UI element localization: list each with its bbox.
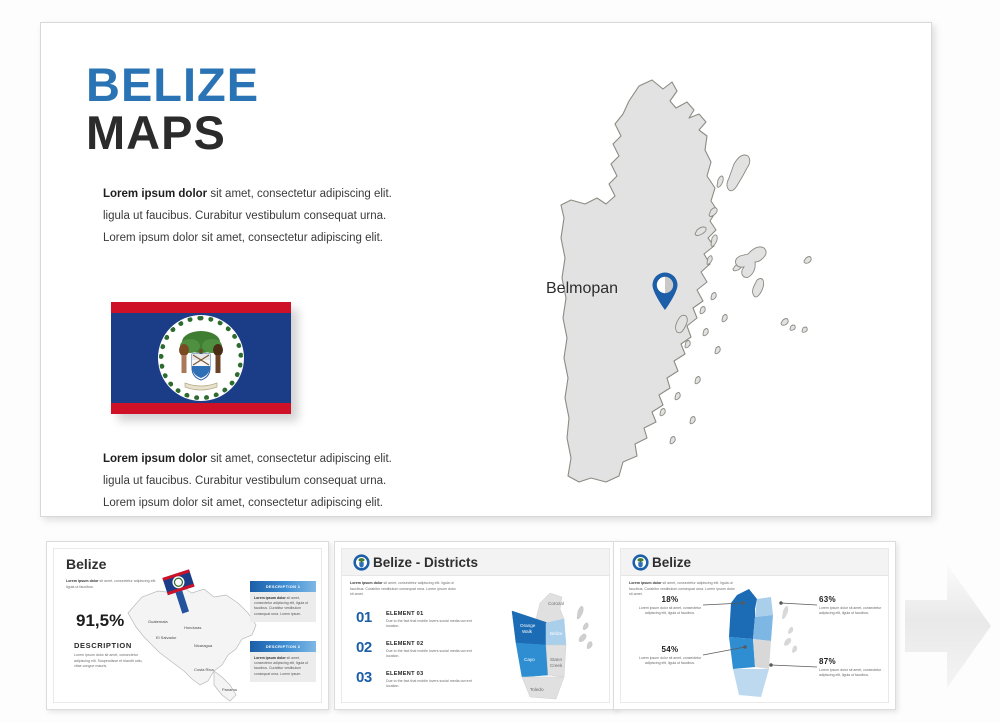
thumbnail-2-intro: Lorem ipsum dolor sit amet, consectetur … [350, 581, 460, 598]
presentation-canvas: BELIZE MAPS Lorem ipsum dolor sit amet, … [0, 0, 1000, 723]
svg-text:Corozal: Corozal [548, 601, 564, 606]
thumbnail-3-callout-4-text: Lorem ipsum dolor sit amet, consectetur … [819, 668, 885, 678]
svg-text:Belize: Belize [550, 631, 563, 636]
thumbnail-3-callout-3-text: Lorem ipsum dolor sit amet, consectetur … [819, 606, 885, 616]
thumbnail-1-panel-1[interactable]: DESCRIPTION 1 Lorem ipsum dolor sit amet… [250, 581, 316, 622]
callout-leader-lines [621, 549, 896, 710]
svg-text:Stann: Stann [550, 657, 562, 662]
svg-text:Costa Rica: Costa Rica [194, 667, 214, 672]
thumbnail-2-element-1-name: ELEMENT 01 [386, 611, 424, 617]
svg-text:Orange: Orange [520, 623, 536, 628]
thumbnail-2-element-2-number: 02 [356, 639, 372, 656]
thumbnail-1-panel-1-header: DESCRIPTION 1 [250, 581, 316, 592]
district-corozal [536, 593, 564, 623]
thumbnail-3-callout-4: 87% Lorem ipsum dolor sit amet, consecte… [819, 657, 885, 678]
capital-city-label: Belmopan [546, 280, 618, 298]
coat-of-arms-icon [353, 554, 370, 571]
intro-paragraph-bottom: Lorem ipsum dolor sit amet, consectetur … [103, 448, 408, 514]
thumbnail-2-element-3-text: Due to the fact that mobile lovers socia… [386, 679, 472, 689]
thumbnail-2-element-2-name: ELEMENT 02 [386, 641, 424, 647]
thumbnail-1-panel-2-header: DESCRIPTION 2 [250, 641, 316, 652]
thumbnail-3-callout-2-pct: 54% [637, 645, 703, 654]
svg-text:Cayo: Cayo [524, 657, 535, 662]
thumbnail-2-inner: Belize - Districts Lorem ipsum dolor sit… [341, 548, 610, 703]
central-america-mini-map: Guatemala Honduras El Salvador Nicaragua… [118, 567, 268, 707]
thumbnail-1-panel-2[interactable]: DESCRIPTION 2 Lorem ipsum dolor sit amet… [250, 641, 316, 682]
svg-text:Nicaragua: Nicaragua [194, 643, 213, 648]
belize-districts-mini-map[interactable]: Corozal Orange Walk Belize Cayo Stann Cr… [492, 575, 612, 705]
svg-text:Guatemala: Guatemala [148, 619, 168, 624]
thumbnail-3-callout-3-pct: 63% [819, 595, 885, 604]
thumbnail-2-intro-bold: Lorem ipsum dolor [350, 581, 383, 585]
title-maps: MAPS [86, 108, 259, 158]
thumbnail-3-callout-1-pct: 18% [637, 595, 703, 604]
thumbnail-2-element-3-name: ELEMENT 03 [386, 671, 424, 677]
thumbnail-2-element-2-text: Due to the fact that mobile lovers socia… [386, 649, 472, 659]
svg-text:Creek: Creek [550, 663, 563, 668]
thumbnail-3-callout-3: 63% Lorem ipsum dolor sit amet, consecte… [819, 595, 885, 616]
map-pin-icon[interactable] [651, 271, 679, 311]
svg-text:Panama: Panama [222, 687, 238, 692]
thumbnail-3-callout-2-text: Lorem ipsum dolor sit amet, consectetur … [637, 656, 703, 666]
thumbnail-1-intro-bold: Lorem ipsum dolor [66, 579, 99, 583]
thumbnail-2-element-3-number: 03 [356, 669, 372, 686]
thumbnail-3-callout-4-pct: 87% [819, 657, 885, 666]
coat-of-arms-icon [111, 302, 291, 414]
thumbnail-slide-1[interactable]: Belize Lorem ipsum dolor sit amet, conse… [46, 541, 329, 710]
intro-paragraph-bottom-bold: Lorem ipsum dolor [103, 453, 207, 465]
next-arrow-icon[interactable] [905, 556, 993, 696]
svg-text:Honduras: Honduras [184, 625, 201, 630]
svg-text:El Salvador: El Salvador [156, 635, 177, 640]
thumbnail-2-element-1-number: 01 [356, 609, 372, 626]
thumbnail-1-panel-1-bold: Lorem ipsum dolor [254, 596, 286, 600]
belize-country-map[interactable]: Belmopan [511, 58, 921, 508]
flag-field [111, 302, 291, 414]
thumbnail-3-inner: Belize Lorem ipsum dolor sit amet, conse… [620, 548, 889, 703]
belize-flag [111, 302, 291, 414]
thumbnail-1-inner: Belize Lorem ipsum dolor sit amet, conse… [53, 548, 322, 703]
thumbnail-2-title: Belize - Districts [373, 555, 478, 570]
thumbnail-2-element-1-text: Due to the fact that mobile lovers socia… [386, 619, 472, 629]
thumbnail-slide-3[interactable]: Belize Lorem ipsum dolor sit amet, conse… [613, 541, 896, 710]
thumbnail-slide-2[interactable]: Belize - Districts Lorem ipsum dolor sit… [334, 541, 617, 710]
main-slide[interactable]: BELIZE MAPS Lorem ipsum dolor sit amet, … [40, 22, 932, 517]
intro-paragraph-top-bold: Lorem ipsum dolor [103, 188, 207, 200]
thumbnail-1-panel-2-bold: Lorem ipsum dolor [254, 656, 286, 660]
title-belize: BELIZE [86, 61, 259, 108]
thumbnail-1-title: Belize [66, 556, 106, 572]
thumbnail-1-panel-1-body: Lorem ipsum dolor sit amet, consectetur … [250, 592, 316, 622]
intro-paragraph-top: Lorem ipsum dolor sit amet, consectetur … [103, 183, 408, 249]
page-title: BELIZE MAPS [86, 61, 259, 158]
thumbnail-3-callout-1-text: Lorem ipsum dolor sit amet, consectetur … [637, 606, 703, 616]
svg-text:Walk: Walk [522, 629, 533, 634]
thumbnail-1-panel-2-body: Lorem ipsum dolor sit amet, consectetur … [250, 652, 316, 682]
thumbnail-3-callout-1: 18% Lorem ipsum dolor sit amet, consecte… [637, 595, 703, 616]
thumbnail-1-stat-value: 91,5% [76, 611, 124, 631]
svg-text:Toledo: Toledo [530, 687, 544, 692]
thumbnail-3-callout-2: 54% Lorem ipsum dolor sit amet, consecte… [637, 645, 703, 666]
